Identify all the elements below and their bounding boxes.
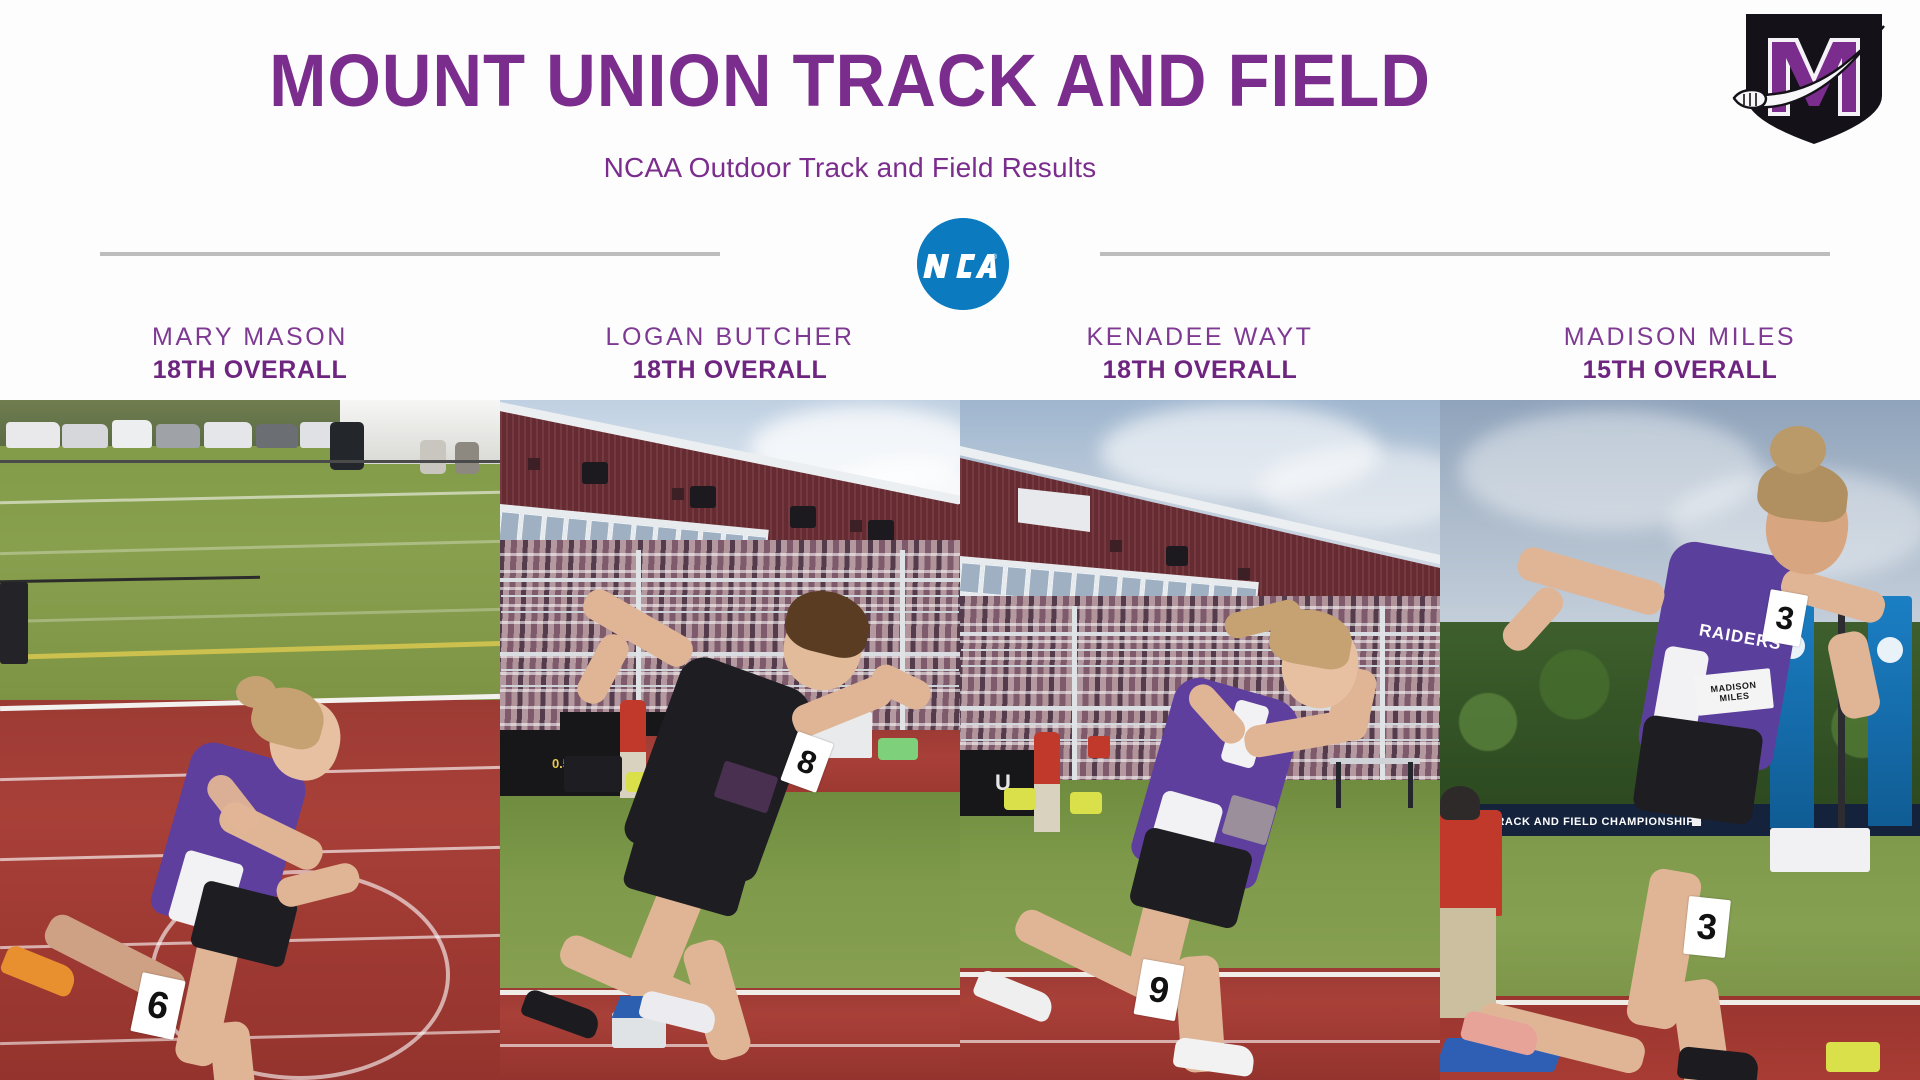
bleacher-railing: [500, 652, 960, 656]
bib-number-4-thigh: 3: [1683, 896, 1731, 958]
parked-car: [256, 424, 298, 448]
equipment-case: [564, 756, 622, 792]
athlete-photo-2: 0.5: [500, 400, 960, 1080]
hair-bun: [1770, 426, 1826, 474]
athlete-label-3: KENADEE WAYT 18TH OVERALL: [960, 316, 1440, 400]
athlete-photo-3: U: [960, 400, 1440, 1080]
hair-bun: [236, 676, 276, 708]
table-leg: [1336, 762, 1341, 808]
wall-vent: [1238, 568, 1250, 580]
table: [1330, 758, 1420, 764]
athlete-name-4: MADISON MILES: [1440, 320, 1920, 354]
page-subtitle: NCAA Outdoor Track and Field Results: [0, 152, 1700, 184]
parked-car: [204, 422, 252, 448]
athlete-label-2: LOGAN BUTCHER 18TH OVERALL: [500, 316, 960, 400]
wall-vent: [672, 488, 684, 500]
svg-text:®: ®: [992, 253, 998, 261]
marker-cone: [1826, 1042, 1880, 1072]
photo-strip: 6: [0, 400, 1920, 1080]
sideline-marker: [1088, 736, 1110, 758]
athlete-name-bib: MADISON MILES: [1694, 668, 1774, 716]
official-head: [1440, 786, 1480, 820]
roof-speaker: [868, 520, 894, 542]
marker-cone: [1070, 792, 1102, 814]
roof-speaker: [1166, 546, 1188, 566]
barrier-fence: [0, 460, 500, 463]
athlete-place-3: 18TH OVERALL: [960, 354, 1440, 386]
athlete-photo-4: MEN'S TRACK AND FIELD CHAMPIONSHIPS: [1440, 400, 1920, 1080]
scene-ncaa-championship: MEN'S TRACK AND FIELD CHAMPIONSHIPS: [1440, 400, 1920, 1080]
divider-left: [100, 252, 720, 256]
athlete-name-1: MARY MASON: [0, 320, 500, 354]
marker-cone: [1004, 788, 1036, 810]
athlete-place-1: 18TH OVERALL: [0, 354, 500, 386]
stair-rail: [900, 550, 905, 750]
bleacher-railing: [960, 632, 1440, 636]
parked-car: [156, 424, 200, 448]
official-red-jacket: [620, 700, 646, 760]
roof-speaker: [582, 462, 608, 484]
athlete-name-2: LOGAN BUTCHER: [500, 320, 960, 354]
spectator: [420, 440, 446, 474]
scoreboard-header: [560, 712, 670, 736]
official-pants: [1440, 908, 1496, 1018]
scene-stadium-1: 0.5: [500, 400, 960, 1080]
wall-vent: [1110, 540, 1122, 552]
marker-cone: [878, 738, 918, 760]
table-leg: [1408, 762, 1413, 808]
wall-vent: [850, 520, 862, 532]
official-red-jacket: [1034, 732, 1060, 790]
athlete-name-3: KENADEE WAYT: [960, 320, 1440, 354]
shorts: [1632, 714, 1764, 826]
page-title: MOUNT UNION TRACK AND FIELD: [60, 38, 1641, 124]
athlete-name-row: MARY MASON 18TH OVERALL LOGAN BUTCHER 18…: [0, 316, 1920, 400]
ncaa-logo-icon: ®: [917, 218, 1009, 310]
scene-stadium-2: U: [960, 400, 1440, 1080]
official-red-jacket: [1440, 810, 1502, 916]
spectator: [455, 442, 479, 474]
mount-union-logo: [1724, 8, 1902, 150]
parked-car: [6, 422, 60, 448]
roof-speaker: [790, 506, 816, 528]
roof-speaker: [690, 486, 716, 508]
bleacher-railing: [500, 578, 960, 582]
name-bib-line2: MILES: [1719, 690, 1750, 703]
graphic-canvas: MOUNT UNION TRACK AND FIELD NCAA Outdoor…: [0, 0, 1920, 1080]
stair-rail: [1380, 606, 1385, 792]
divider-right: [1100, 252, 1830, 256]
equipment-case: [0, 582, 28, 664]
parked-car: [62, 424, 108, 448]
wall-vent: [528, 458, 540, 470]
stair-rail: [1072, 606, 1077, 792]
athlete-place-4: 15TH OVERALL: [1440, 354, 1920, 386]
parked-car: [112, 420, 152, 448]
athlete-label-1: MARY MASON 18TH OVERALL: [0, 316, 500, 400]
official-pants: [1034, 784, 1060, 832]
cooler: [1770, 828, 1870, 872]
athlete-label-4: MADISON MILES 15TH OVERALL: [1440, 316, 1920, 400]
scene-sunny-track: 6: [0, 400, 500, 1080]
athlete-photo-1: 6: [0, 400, 500, 1080]
athlete-place-2: 18TH OVERALL: [500, 354, 960, 386]
